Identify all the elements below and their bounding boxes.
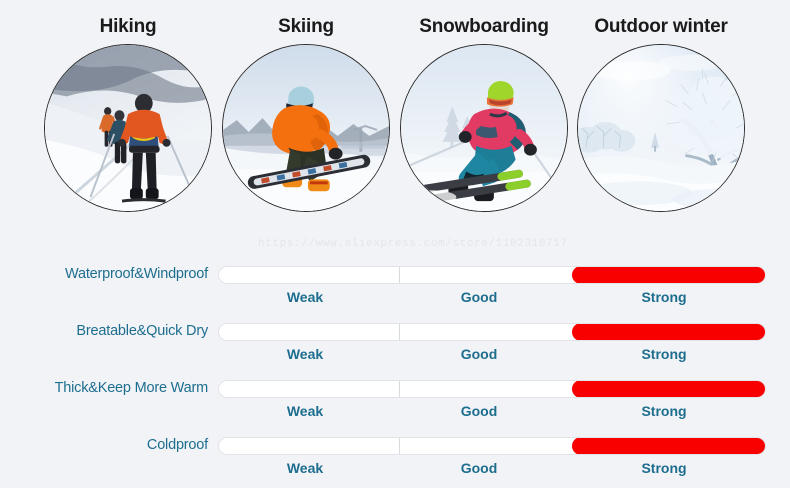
category-item-hiking: Hiking bbox=[40, 16, 216, 212]
scale-label-weak: Weak bbox=[245, 287, 365, 307]
scale-label-good: Good bbox=[419, 287, 539, 307]
rating-row: Thick&Keep More Warm Weak Good Strong bbox=[0, 372, 790, 429]
scale-label-good: Good bbox=[419, 458, 539, 478]
rating-row: Waterproof&Windproof Weak Good Strong bbox=[0, 258, 790, 315]
category-title: Snowboarding bbox=[396, 16, 572, 38]
bar-divider bbox=[399, 438, 400, 455]
scale-label-weak: Weak bbox=[245, 458, 365, 478]
rating-scale: Weak Good Strong bbox=[218, 458, 766, 480]
rating-scale: Weak Good Strong bbox=[218, 344, 766, 366]
rating-label: Breatable&Quick Dry bbox=[0, 323, 208, 339]
hikers-ski-touring-snow-slope-photo bbox=[44, 44, 212, 212]
bar-divider bbox=[399, 324, 400, 341]
rating-bar bbox=[218, 323, 766, 341]
category-item-snowboarding: Snowboarding bbox=[396, 16, 572, 212]
rating-row: Breatable&Quick Dry Weak Good Strong bbox=[0, 315, 790, 372]
store-url-watermark: https://www.aliexpress.com/store/1102310… bbox=[258, 238, 568, 250]
bar-fill bbox=[572, 437, 766, 455]
category-item-skiing: Skiing bbox=[218, 16, 394, 212]
rating-scale: Weak Good Strong bbox=[218, 401, 766, 423]
scale-label-strong: Strong bbox=[604, 287, 724, 307]
skier-pink-teal-suit-carving-photo bbox=[400, 44, 568, 212]
bar-divider bbox=[399, 381, 400, 398]
rating-bar bbox=[218, 437, 766, 455]
scale-label-strong: Strong bbox=[604, 458, 724, 478]
bar-fill bbox=[572, 266, 766, 284]
scale-label-weak: Weak bbox=[245, 401, 365, 421]
scale-label-good: Good bbox=[419, 344, 539, 364]
snowy-landscape-frosted-trees-photo bbox=[577, 44, 745, 212]
category-title: Outdoor winter bbox=[573, 16, 749, 38]
bar-divider bbox=[399, 267, 400, 284]
category-title: Skiing bbox=[218, 16, 394, 38]
rating-label: Waterproof&Windproof bbox=[0, 266, 208, 282]
rating-label: Coldproof bbox=[0, 437, 208, 453]
scale-label-weak: Weak bbox=[245, 344, 365, 364]
rating-bar bbox=[218, 380, 766, 398]
category-item-outdoor-winter: Outdoor winter bbox=[573, 16, 749, 212]
category-title: Hiking bbox=[40, 16, 216, 38]
bar-fill bbox=[572, 323, 766, 341]
snowboarder-orange-jacket-photo bbox=[222, 44, 390, 212]
scale-label-strong: Strong bbox=[604, 344, 724, 364]
rating-scale: Weak Good Strong bbox=[218, 287, 766, 309]
rating-row: Coldproof Weak Good Strong bbox=[0, 429, 790, 486]
category-gallery: Hiking bbox=[0, 0, 790, 238]
rating-label: Thick&Keep More Warm bbox=[0, 380, 208, 396]
feature-ratings: Waterproof&Windproof Weak Good Strong Br… bbox=[0, 258, 790, 488]
scale-label-strong: Strong bbox=[604, 401, 724, 421]
scale-label-good: Good bbox=[419, 401, 539, 421]
bar-fill bbox=[572, 380, 766, 398]
rating-bar bbox=[218, 266, 766, 284]
